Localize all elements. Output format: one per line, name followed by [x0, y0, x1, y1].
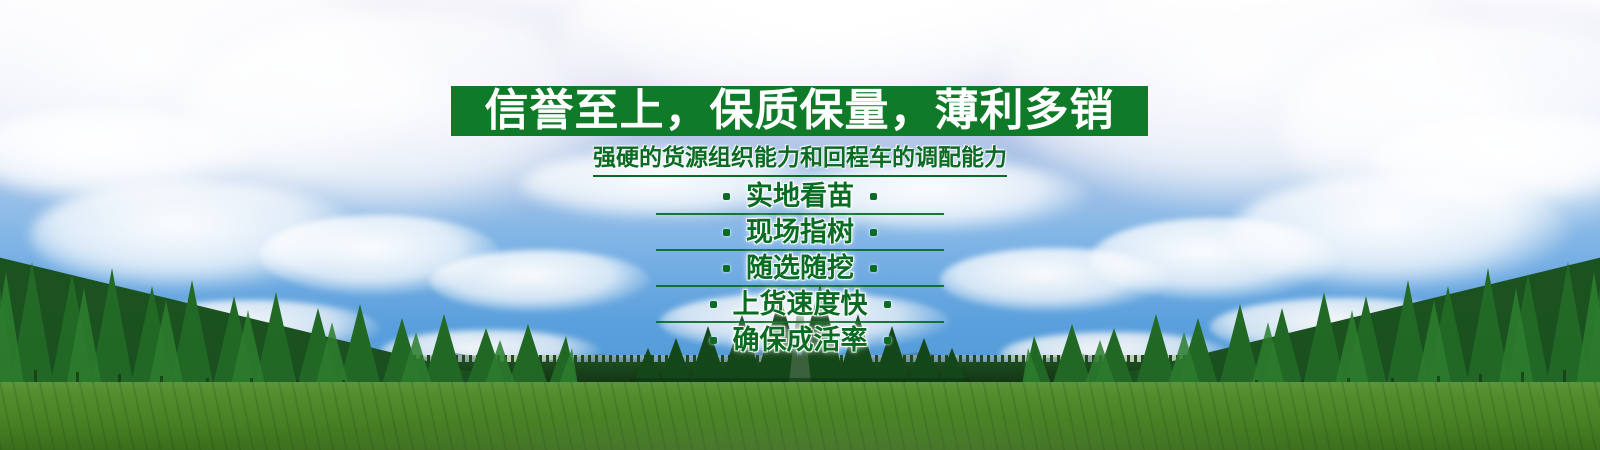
list-item: 确保成活率	[660, 322, 940, 358]
bullet-dot-icon	[884, 301, 891, 308]
bullet-dot-icon	[723, 265, 730, 272]
bullet-dot-icon	[870, 193, 877, 200]
bullet-dot-icon	[710, 301, 717, 308]
feature-list: 实地看苗 现场指树 随选随挖 上货速度快	[0, 178, 1600, 358]
promo-banner: 信誉至上，保质保量，薄利多销 强硬的货源组织能力和回程车的调配能力 实地看苗 现…	[0, 0, 1600, 450]
bullet-dot-icon	[723, 229, 730, 236]
bullet-dot-icon	[870, 229, 877, 236]
bullet-dot-icon	[870, 265, 877, 272]
list-item: 实地看苗	[660, 178, 940, 214]
subtitle-row: 强硬的货源组织能力和回程车的调配能力	[0, 145, 1600, 177]
banner-content: 信誉至上，保质保量，薄利多销 强硬的货源组织能力和回程车的调配能力 实地看苗 现…	[0, 0, 1600, 450]
bullet-dot-icon	[884, 337, 891, 344]
list-item-label: 实地看苗	[746, 183, 854, 210]
list-item: 上货速度快	[660, 286, 940, 322]
list-item-label: 上货速度快	[733, 291, 868, 318]
list-item: 现场指树	[660, 214, 940, 250]
list-item: 随选随挖	[660, 250, 940, 286]
bullet-dot-icon	[723, 193, 730, 200]
list-item-label: 现场指树	[746, 219, 854, 246]
list-item-label: 确保成活率	[733, 327, 868, 354]
bullet-dot-icon	[710, 337, 717, 344]
headline-text: 信誉至上，保质保量，薄利多销	[485, 89, 1115, 133]
list-item-label: 随选随挖	[746, 255, 854, 282]
headline-bar: 信誉至上，保质保量，薄利多销	[451, 86, 1148, 136]
subtitle-text: 强硬的货源组织能力和回程车的调配能力	[593, 145, 1007, 177]
